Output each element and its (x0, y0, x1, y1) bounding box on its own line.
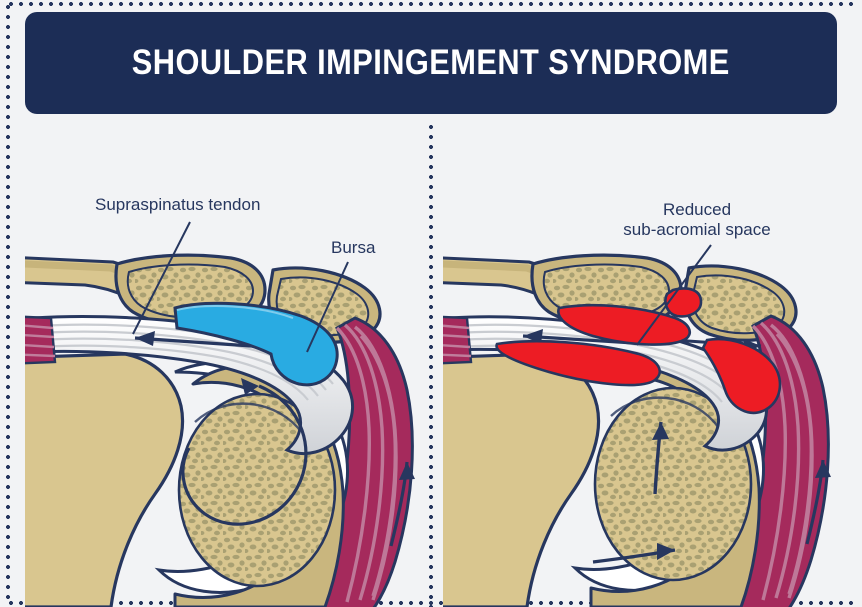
label-supraspinatus-tendon: Supraspinatus tendon (95, 195, 260, 215)
illustration-stage: SHOULDER IMPINGEMENT SYNDROME (0, 0, 862, 607)
label-reduced-subacromial-space: Reduced sub-acromial space (597, 200, 797, 240)
supraspinatus-muscle (25, 316, 55, 364)
label-reduced-line2: sub-acromial space (597, 220, 797, 240)
supraspinatus-muscle (443, 316, 471, 364)
impinged-shoulder-diagram (443, 122, 843, 607)
page-title: SHOULDER IMPINGEMENT SYNDROME (132, 43, 730, 83)
title-banner: SHOULDER IMPINGEMENT SYNDROME (25, 12, 837, 114)
panel-divider-dotted (429, 122, 433, 607)
label-reduced-line1: Reduced (663, 200, 731, 219)
frame-dotted-left (6, 2, 10, 605)
label-bursa: Bursa (331, 238, 375, 258)
frame-dotted-top (6, 2, 858, 6)
panel-impinged-shoulder (443, 122, 843, 607)
